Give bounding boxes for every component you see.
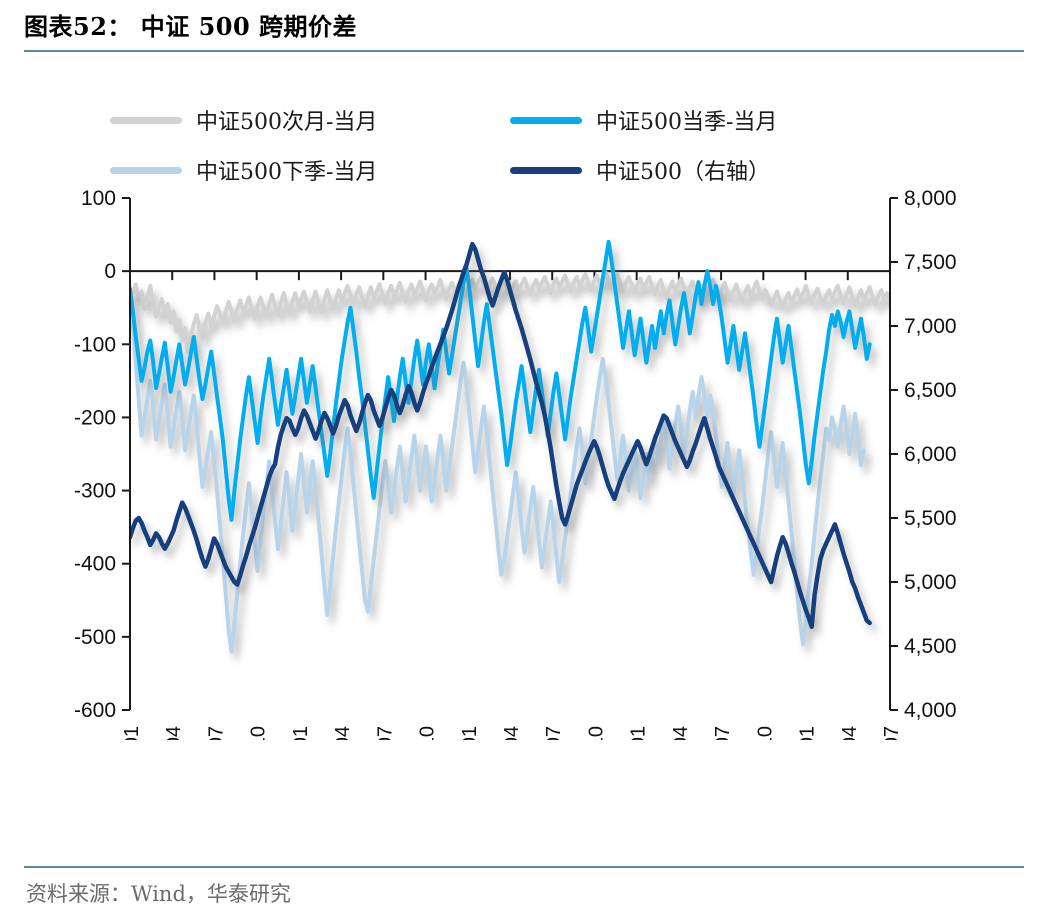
y-right-tick-label: 5,500 — [904, 507, 957, 530]
x-tick-label: 2022-01 — [459, 726, 481, 740]
y-left-tick-label: -500 — [74, 626, 116, 649]
footer-divider — [24, 866, 1024, 868]
chart-area: 1000-100-200-300-400-500-600 8,0007,5007… — [0, 180, 1048, 740]
x-tick-label: 2022-04 — [501, 726, 523, 740]
y-left-tick-label: -100 — [74, 333, 116, 356]
y-right-tick-label: 4,500 — [904, 635, 957, 658]
legend-label-current-quarter: 中证500当季-当月 — [596, 104, 777, 136]
y-right-tick-label: 6,500 — [904, 379, 957, 402]
figure-page: 图表52： 中证 500 跨期价差 中证500次月-当月 中证500当季-当月 … — [0, 0, 1048, 916]
legend-swatch-next-quarter — [110, 167, 182, 174]
x-tick-label: 2023-04 — [670, 726, 692, 740]
x-tick-label: 2023-01 — [628, 726, 650, 740]
y-right-tick-label: 8,000 — [904, 187, 957, 210]
x-tick-label: 2020-07 — [205, 726, 227, 740]
x-tick-label: 2024-07 — [881, 726, 903, 740]
x-tick-label: 2020-04 — [163, 726, 185, 740]
x-tick-label: 2021-04 — [332, 726, 354, 740]
figure-header: 图表52： 中证 500 跨期价差 — [24, 10, 1024, 44]
title-divider — [24, 50, 1024, 52]
y-left-tick-label: -200 — [74, 406, 116, 429]
x-tick-label: 2023-07 — [712, 726, 734, 740]
legend-item-1[interactable]: 中证500当季-当月 — [510, 95, 910, 145]
x-tick-label: 2024-04 — [839, 726, 861, 740]
chart-series — [130, 242, 890, 652]
y-left-tick-label: 0 — [104, 260, 116, 283]
y-right-tick-label: 7,000 — [904, 315, 957, 338]
y-left-tick-label: -300 — [74, 480, 116, 503]
x-tick-label: 2024-01 — [797, 726, 819, 740]
legend-item-0[interactable]: 中证500次月-当月 — [110, 95, 510, 145]
x-tick-label: 2020-01 — [121, 726, 143, 740]
y-left-tick-label: 100 — [81, 187, 116, 210]
y-left-tick-label: -600 — [74, 699, 116, 722]
y-right-tick-label: 7,500 — [904, 251, 957, 274]
y-right-tick-label: 5,000 — [904, 571, 957, 594]
source-note: 资料来源：Wind，华泰研究 — [26, 878, 291, 908]
x-tick-label: 2023-10 — [754, 726, 776, 740]
legend-swatch-next-month — [110, 117, 182, 124]
series-line — [130, 293, 864, 651]
y-right-tick-label: 6,000 — [904, 443, 957, 466]
legend-swatch-current-quarter — [510, 117, 582, 124]
x-tick-label: 2022-07 — [543, 726, 565, 740]
y-left-tick-label: -400 — [74, 553, 116, 576]
x-tick-label: 2021-07 — [374, 726, 396, 740]
x-tick-label: 2021-10 — [417, 726, 439, 740]
legend-label-next-month: 中证500次月-当月 — [196, 104, 377, 136]
y-right-tick-label: 4,000 — [904, 699, 957, 722]
x-tick-label: 2020-10 — [248, 726, 270, 740]
line-chart: 1000-100-200-300-400-500-600 8,0007,5007… — [0, 180, 1048, 740]
legend-swatch-index — [510, 167, 582, 174]
x-tick-label: 2022-10 — [585, 726, 607, 740]
y-axis-right: 8,0007,5007,0006,5006,0005,5005,0004,500… — [890, 187, 957, 722]
y-axis-left: 1000-100-200-300-400-500-600 — [74, 187, 130, 722]
x-tick-label: 2021-01 — [290, 726, 312, 740]
page-title: 图表52： 中证 500 跨期价差 — [24, 10, 1024, 44]
